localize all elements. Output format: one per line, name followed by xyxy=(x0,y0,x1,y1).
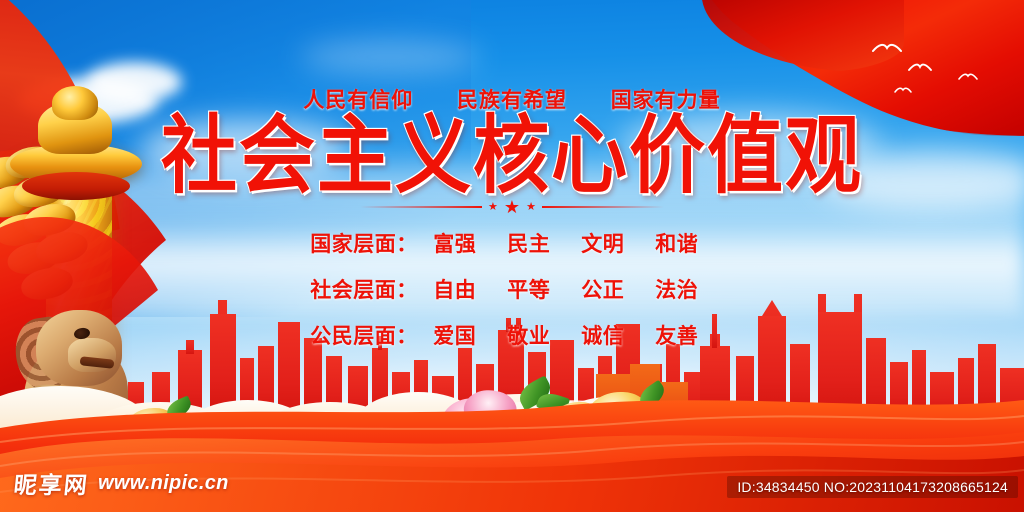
value-row-national: 国家层面：富强民主文明和谐 xyxy=(0,228,1024,258)
watermark-logo: 昵享网 xyxy=(12,466,91,500)
value-social-4: 法治 xyxy=(640,274,714,304)
watermark-url: www.nipic.cn xyxy=(98,472,229,495)
flying-bird-icon-1 xyxy=(872,42,902,54)
star-icon-center: ★ xyxy=(504,198,520,216)
value-national-1: 富强 xyxy=(418,228,492,258)
divider-line-left xyxy=(360,206,482,208)
star-divider: ★ ★ ★ xyxy=(0,198,1024,216)
page-title: 社会主义核心价值观 xyxy=(0,113,1024,198)
value-social-3: 公正 xyxy=(566,274,640,304)
value-row-label-citizen: 公民层面： xyxy=(310,320,418,350)
flying-bird-icon-3 xyxy=(958,72,978,81)
value-social-2: 平等 xyxy=(492,274,566,304)
value-national-4: 和谐 xyxy=(640,228,714,258)
cloud-puff-f xyxy=(300,40,480,74)
divider-line-right xyxy=(542,206,664,208)
star-icon-left: ★ xyxy=(488,202,498,213)
poster-canvas: 人民有信仰 民族有希望 国家有力量 社会主义核心价值观 ★ ★ ★ 国家层面：富… xyxy=(0,0,1024,512)
value-citizen-2: 敬业 xyxy=(492,320,566,350)
image-id-badge: ID:34834450 NO:20231104173208665124 xyxy=(727,476,1018,498)
value-national-3: 文明 xyxy=(566,228,640,258)
value-row-social: 社会层面：自由平等公正法治 xyxy=(0,274,1024,304)
value-social-1: 自由 xyxy=(418,274,492,304)
value-row-citizen: 公民层面：爱国敬业诚信友善 xyxy=(0,320,1024,350)
value-citizen-1: 爱国 xyxy=(418,320,492,350)
value-citizen-4: 友善 xyxy=(640,320,714,350)
value-row-label-social: 社会层面： xyxy=(310,274,418,304)
value-citizen-3: 诚信 xyxy=(566,320,640,350)
watermark: 昵享网 www.nipic.cn xyxy=(14,466,229,500)
flying-bird-icon-2 xyxy=(908,62,932,72)
value-row-label-national: 国家层面： xyxy=(310,228,418,258)
star-icon-right: ★ xyxy=(526,202,536,213)
value-national-2: 民主 xyxy=(492,228,566,258)
